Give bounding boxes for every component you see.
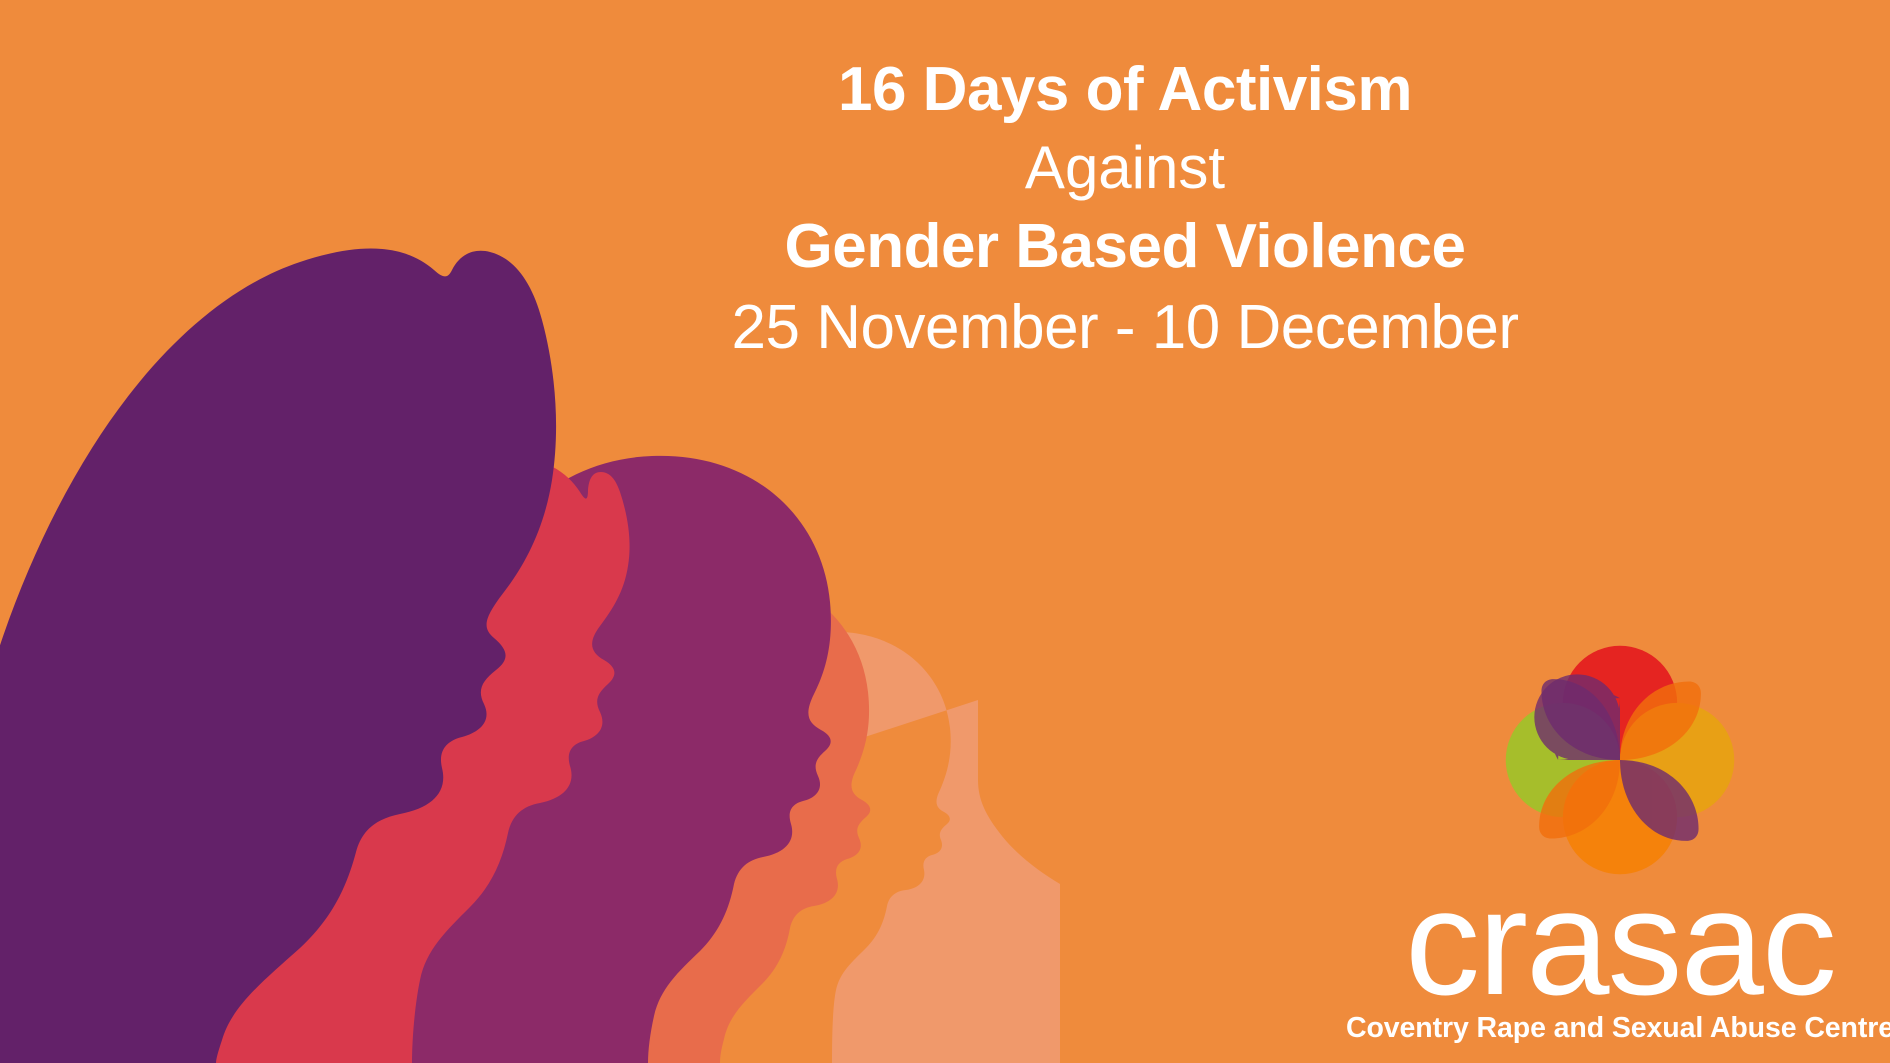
crasac-logo: crasac Coventry Rape and Sexual Abuse Ce…	[1370, 641, 1870, 1045]
headline-line-3: Gender Based Violence	[620, 212, 1630, 283]
headline-line-1: 16 Days of Activism	[620, 55, 1630, 126]
crasac-wordmark: crasac	[1405, 881, 1835, 1004]
headline-block: 16 Days of Activism Against Gender Based…	[620, 55, 1630, 363]
poster-canvas: 16 Days of Activism Against Gender Based…	[0, 0, 1890, 1063]
headline-line-2: Against	[620, 134, 1630, 202]
crasac-flower-logo-icon	[1501, 641, 1739, 879]
crasac-tagline: Coventry Rape and Sexual Abuse Centre	[1346, 1012, 1890, 1045]
headline-date-range: 25 November - 10 December	[620, 293, 1630, 364]
